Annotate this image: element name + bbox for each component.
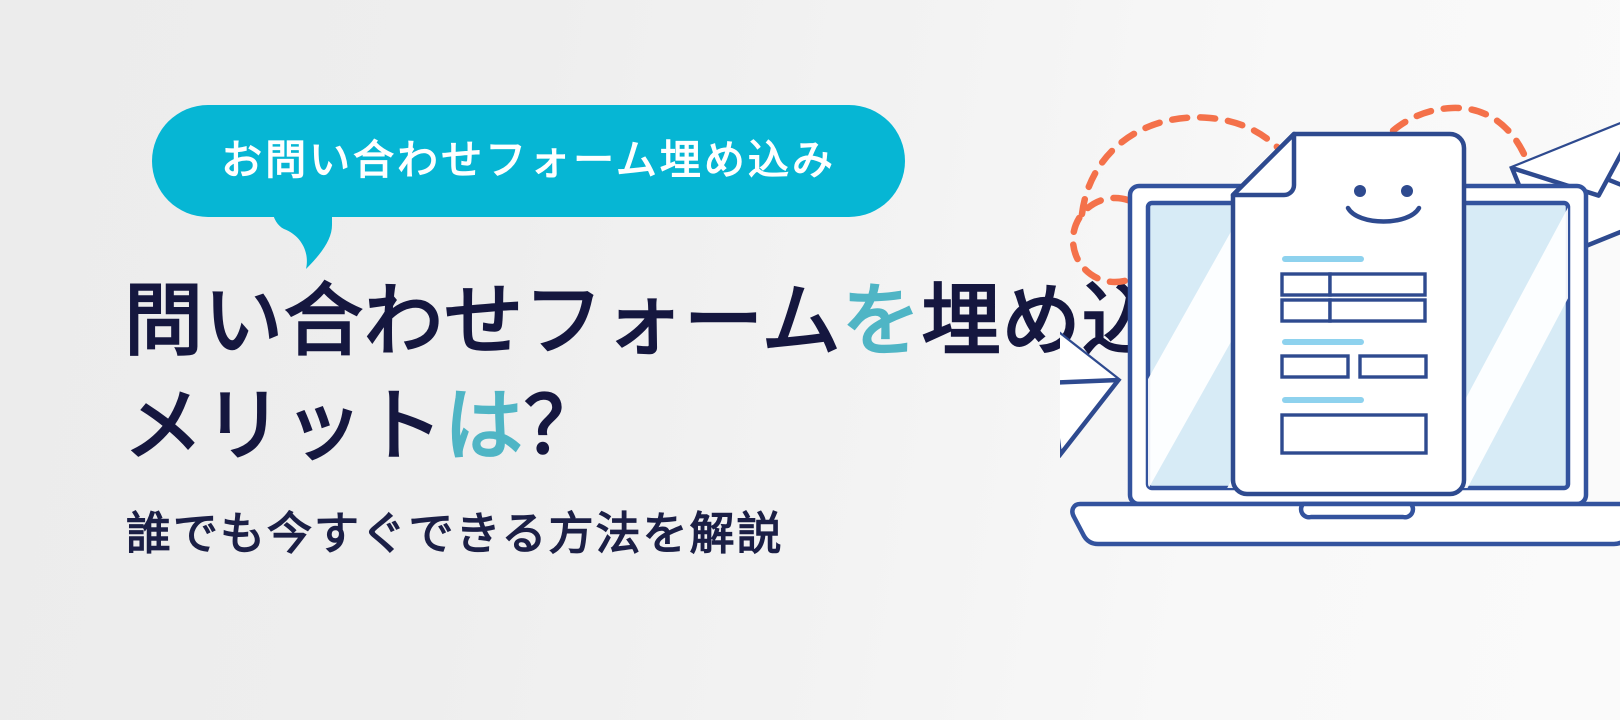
document-face <box>1348 185 1419 222</box>
form-field-3b <box>1360 356 1426 377</box>
badge-label: お問い合わせフォーム埋め込み <box>221 140 836 181</box>
form-field-2a <box>1282 300 1330 321</box>
badge-tail-icon <box>270 209 340 271</box>
dashed-arc-left <box>1082 117 1318 232</box>
laptop-notch <box>1301 504 1413 517</box>
headline-line2-accent: は <box>444 381 524 470</box>
form-field-1a <box>1282 274 1330 295</box>
document-form-rows <box>1282 256 1426 453</box>
face-eye-left <box>1354 185 1366 197</box>
form-field-4a <box>1282 415 1426 453</box>
headline-line2-part2: ？ <box>524 381 604 470</box>
laptop-base <box>1072 504 1620 544</box>
headline-line-1: 問い合わせフォームを埋め込む <box>124 268 1224 373</box>
headline-line-2: メリットは？ <box>124 373 1224 478</box>
document-body <box>1233 134 1464 494</box>
document-fold-corner <box>1233 134 1294 195</box>
envelope-right <box>1512 116 1620 261</box>
headline-line1-part2: 埋め込む <box>922 276 1242 365</box>
badge-container: お問い合わせフォーム埋め込み <box>152 105 905 217</box>
page-subtitle: 誰でも今すぐできる方法を解説 <box>126 505 784 564</box>
page-title: 問い合わせフォームを埋め込む メリットは？ <box>124 268 1224 478</box>
form-label-bar-1 <box>1282 256 1364 262</box>
form-label-bar-2 <box>1282 339 1364 345</box>
form-field-1b <box>1330 274 1425 295</box>
hero-banner: お問い合わせフォーム埋め込み 問い合わせフォームを埋め込む メリットは？ 誰でも… <box>0 0 1620 720</box>
face-smile <box>1348 208 1419 222</box>
dashed-arc-right <box>1348 108 1536 230</box>
headline-line1-part1: 問い合わせフォーム <box>124 276 842 365</box>
form-field-2b <box>1330 300 1425 321</box>
face-eye-right <box>1401 185 1413 197</box>
form-field-3a <box>1282 356 1348 377</box>
headline-line1-accent: を <box>842 276 922 365</box>
dashed-path <box>1073 108 1536 282</box>
category-badge: お問い合わせフォーム埋め込み <box>152 105 905 217</box>
headline-line2-part1: メリット <box>124 381 444 470</box>
form-document <box>1233 134 1464 494</box>
form-label-bar-3 <box>1282 397 1364 403</box>
